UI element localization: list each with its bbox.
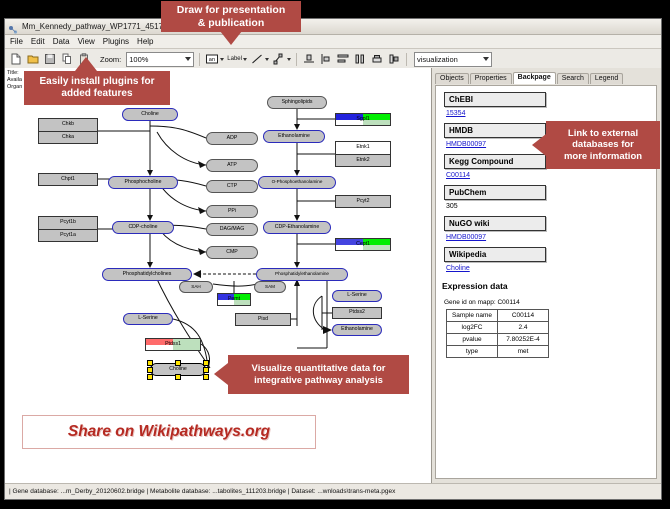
node-etnk2[interactable]: Etnk2	[335, 154, 391, 167]
callout-arrow-down-draw	[220, 31, 242, 45]
selection-handle[interactable]	[147, 360, 153, 366]
node-label: Pcyt2	[357, 199, 370, 204]
node-label: Ethanolamine	[278, 134, 310, 139]
node-label: Sgpl1	[356, 117, 369, 122]
tab-search[interactable]: Search	[557, 73, 589, 84]
menu-item-plugins[interactable]: Plugins	[103, 37, 129, 46]
chevron-down-icon	[265, 58, 269, 61]
node-adp[interactable]: ADP	[206, 132, 258, 145]
share-text: Share on Wikipathways.org	[68, 423, 270, 441]
table-row: type met	[447, 346, 549, 358]
node-label: Ptdss2	[349, 310, 365, 315]
db-header-wikipedia: Wikipedia	[444, 247, 546, 262]
chevron-down-icon	[287, 58, 291, 61]
node-label: Pcyt1a	[60, 233, 76, 238]
svg-text:an: an	[209, 57, 216, 63]
node-sah[interactable]: SAH	[179, 281, 213, 293]
zoom-value: 100%	[129, 55, 148, 64]
pathvisio-icon	[8, 22, 18, 32]
cell-value: 2.4	[498, 322, 549, 334]
node-cdp-choline[interactable]: CDP-choline	[112, 221, 174, 234]
visualization-combo[interactable]: visualization	[414, 52, 492, 67]
tab-properties[interactable]: Properties	[470, 73, 512, 84]
menu-item-file[interactable]: File	[10, 37, 23, 46]
node-sphingolipids[interactable]: Sphingolipids	[267, 96, 327, 109]
line-icon[interactable]	[250, 52, 264, 66]
bring-front-icon[interactable]	[370, 52, 384, 66]
db-link-chebi[interactable]: 15354	[446, 110, 656, 117]
node-etnk1[interactable]: Etnk1	[335, 141, 391, 154]
node-label: PPi	[228, 209, 236, 214]
shape-tool[interactable]	[272, 52, 291, 66]
callout-arrow-up-plugins	[75, 57, 97, 71]
node-label: CDP-choline	[128, 225, 157, 230]
cell-label: pvalue	[447, 334, 498, 346]
node-label: ATP	[227, 163, 237, 168]
db-header-kegg-compound: Kegg Compound	[444, 154, 546, 169]
node-label: Chka	[62, 135, 74, 140]
node-label: Ethanolamine	[341, 327, 373, 332]
cell-value: C00114	[498, 310, 549, 322]
label-tool[interactable]: Label	[227, 56, 247, 62]
db-value-pubchem: 305	[446, 203, 656, 210]
line-tool[interactable]	[250, 52, 269, 66]
gene-id-label: Gene id on mapp: C00114	[444, 299, 656, 306]
node-pcyt1b[interactable]: Pcyt1b	[38, 216, 98, 229]
node-chka[interactable]: Chka	[38, 131, 98, 144]
chevron-down-icon	[243, 58, 247, 61]
menu-bar: File Edit Data View Plugins Help	[5, 35, 661, 49]
node-label: Pcyt1b	[60, 220, 76, 225]
cell-label: type	[447, 346, 498, 358]
status-text: | Gene database: ...m_Derby_20120602.bri…	[9, 488, 395, 495]
db-header-pubchem: PubChem	[444, 185, 546, 200]
node-label: Cept1	[356, 242, 370, 247]
node-ctp[interactable]: CTP	[206, 180, 258, 193]
callout-external-links: Link to external databases for more info…	[546, 121, 660, 169]
node-ethanolamine-bottom[interactable]: Ethanolamine	[332, 324, 382, 336]
selection-handle[interactable]	[175, 360, 181, 366]
cell-label: Sample name	[447, 310, 498, 322]
node-sam[interactable]: SAM	[254, 281, 286, 293]
title-bar: Mm_Kennedy_pathway_WP1771_45176.gpml	[5, 19, 661, 35]
datanode-tool[interactable]: an	[205, 52, 224, 66]
node-label: Chkb	[62, 122, 74, 127]
selection-handle[interactable]	[175, 374, 181, 380]
datanode-icon[interactable]: an	[205, 52, 219, 66]
shape-icon[interactable]	[272, 52, 286, 66]
node-label: CDP-Ethanolamine	[275, 225, 319, 230]
save-disk-icon[interactable]	[43, 52, 57, 66]
callout-arrow-left-visualize	[214, 363, 228, 385]
status-bar: | Gene database: ...m_Derby_20120602.bri…	[5, 483, 661, 499]
node-phosphocholine[interactable]: Phosphocholine	[108, 176, 178, 189]
node-pemt[interactable]: Pemt	[217, 293, 251, 306]
node-chpt1[interactable]: Chpt1	[38, 173, 98, 186]
node-label: Phosphatidylcholines	[123, 272, 172, 277]
node-ptdss1[interactable]: Ptdss1	[145, 338, 201, 351]
tab-legend[interactable]: Legend	[590, 73, 623, 84]
node-label: Etnk2	[356, 158, 369, 163]
table-row: Sample name C00114	[447, 310, 549, 322]
new-file-icon[interactable]	[9, 52, 23, 66]
node-label: SAH	[191, 285, 200, 290]
db-link-nugo-wiki[interactable]: HMDB00097	[446, 234, 656, 241]
toolbar-separator	[199, 53, 200, 66]
visualization-value: visualization	[417, 55, 458, 64]
selection-handle[interactable]	[147, 367, 153, 373]
zoom-combo[interactable]: 100%	[126, 52, 194, 67]
menu-item-data[interactable]: Data	[53, 37, 70, 46]
menu-item-view[interactable]: View	[78, 37, 95, 46]
node-atp[interactable]: ATP	[206, 159, 258, 172]
node-phosphatidylethanolamine[interactable]: Phosphatidylethanolamine	[256, 268, 348, 281]
node-l-serine-left[interactable]: L-Serine	[123, 313, 173, 325]
db-link-wikipedia[interactable]: Choline	[446, 265, 656, 272]
zoom-label: Zoom:	[100, 55, 121, 64]
node-label: Sphingolipids	[282, 100, 313, 105]
node-label: L-Serine	[347, 293, 367, 298]
node-cmp[interactable]: CMP	[206, 246, 258, 259]
send-back-icon[interactable]	[387, 52, 401, 66]
tab-backpage[interactable]: Backpage	[513, 72, 556, 84]
copy-icon[interactable]	[60, 52, 74, 66]
node-label: Ptdss1	[165, 342, 181, 347]
node-ethanolamine-top[interactable]: Ethanolamine	[263, 130, 325, 143]
callout-share-wikipathways: Share on Wikipathways.org	[22, 415, 316, 449]
node-choline-top[interactable]: Choline	[122, 108, 178, 121]
cell-label: log2FC	[447, 322, 498, 334]
callout-visualize-data: Visualize quantitative data for integrat…	[228, 355, 409, 394]
expression-table: Sample name C00114 log2FC 2.4 pvalue 7.8…	[446, 309, 549, 358]
node-label: CMP	[226, 250, 238, 255]
node-label: Phosphatidylethanolamine	[275, 272, 329, 277]
cell-value: 7.80252E-4	[498, 334, 549, 346]
node-chkb[interactable]: Chkb	[38, 118, 98, 131]
node-label: O-Phosphoethanolamine	[272, 180, 323, 185]
menu-item-help[interactable]: Help	[137, 37, 153, 46]
node-label: L-Serine	[138, 316, 158, 321]
table-row: pvalue 7.80252E-4	[447, 334, 549, 346]
db-header-nugo-wiki: NuGO wiki	[444, 216, 546, 231]
selection-handle[interactable]	[203, 367, 209, 373]
node-label: SAM	[265, 285, 275, 290]
db-header-chebi: ChEBI	[444, 92, 546, 107]
node-label: DAG/MAG	[220, 227, 245, 232]
callout-install-plugins: Easily install plugins for added feature…	[24, 71, 170, 105]
node-ptdss2[interactable]: Ptdss2	[332, 307, 382, 319]
toolbar: Zoom: 100% an Label	[5, 49, 661, 70]
node-sgpl1[interactable]: Sgpl1	[335, 113, 391, 126]
cell-value: met	[498, 346, 549, 358]
node-label: Etnk1	[356, 145, 369, 150]
node-label: Choline	[141, 112, 159, 117]
label-tool-text: Label	[227, 56, 242, 62]
db-header-hmdb: HMDB	[444, 123, 546, 138]
node-pcyt1a[interactable]: Pcyt1a	[38, 229, 98, 242]
node-label: Pisd	[258, 317, 268, 322]
screenshot-root: Mm_Kennedy_pathway_WP1771_45176.gpml Fil…	[0, 0, 670, 509]
node-dag-mag[interactable]: DAG/MAG	[206, 223, 258, 236]
node-cept1[interactable]: Cept1	[335, 238, 391, 251]
node-pisd[interactable]: Pisd	[235, 313, 291, 326]
node-pcyt2[interactable]: Pcyt2	[335, 195, 391, 208]
align-top-icon[interactable]	[302, 52, 316, 66]
table-row: log2FC 2.4	[447, 322, 549, 334]
node-cdp-ethanolamine[interactable]: CDP-Ethanolamine	[263, 221, 331, 234]
node-l-serine-right[interactable]: L-Serine	[332, 290, 382, 302]
selection-handle[interactable]	[147, 374, 153, 380]
distribute-icon[interactable]	[336, 52, 350, 66]
node-ppi[interactable]: PPi	[206, 205, 258, 218]
selection-handle[interactable]	[203, 360, 209, 366]
toolbar-separator	[406, 53, 407, 66]
selection-handle[interactable]	[203, 374, 209, 380]
node-label: CTP	[227, 184, 237, 189]
node-label: Choline	[169, 367, 187, 372]
node-label: Phosphocholine	[125, 180, 162, 185]
open-folder-icon[interactable]	[26, 52, 40, 66]
db-link-kegg-compound[interactable]: C00114	[446, 172, 656, 179]
callout-arrow-left-links	[532, 134, 546, 156]
expression-data-heading: Expression data	[442, 281, 656, 291]
callout-draw-for-publication: Draw for presentation & publication	[161, 1, 301, 32]
same-width-icon[interactable]	[353, 52, 367, 66]
tab-objects[interactable]: Objects	[435, 73, 469, 84]
align-left-icon[interactable]	[319, 52, 333, 66]
node-label: Chpt1	[61, 177, 75, 182]
node-o-phosphoethanolamine[interactable]: O-Phosphoethanolamine	[258, 176, 336, 189]
node-phosphatidylcholines[interactable]: Phosphatidylcholines	[102, 268, 192, 281]
node-label: ADP	[227, 136, 238, 141]
node-label: Pemt	[228, 297, 240, 302]
chevron-down-icon	[483, 57, 489, 61]
menu-item-edit[interactable]: Edit	[31, 37, 45, 46]
chevron-down-icon	[220, 58, 224, 61]
side-tabs: Objects Properties Backpage Search Legen…	[435, 72, 623, 84]
toolbar-separator	[296, 53, 297, 66]
chevron-down-icon	[185, 57, 191, 61]
